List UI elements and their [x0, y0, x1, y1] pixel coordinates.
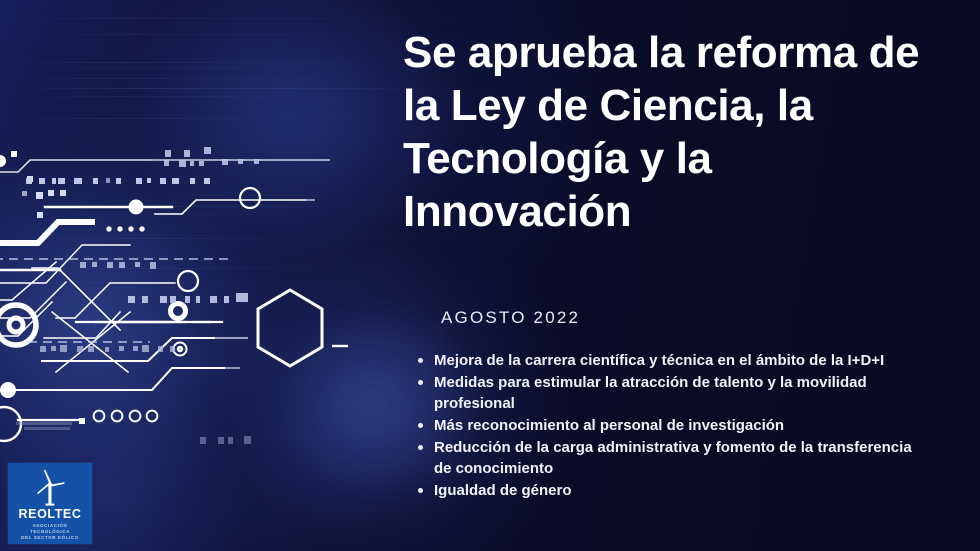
slide-date: AGOSTO 2022 [441, 308, 580, 328]
bullet-list: Mejora de la carrera científica y técnic… [413, 350, 933, 502]
list-item-text: Medidas para estimular la atracción de t… [434, 374, 867, 412]
list-item: Más reconocimiento al personal de invest… [413, 415, 933, 436]
list-item: Medidas para estimular la atracción de t… [413, 372, 933, 414]
bullet-dot-icon [418, 488, 423, 493]
slide-title: Se aprueba la reforma de la Ley de Cienc… [403, 26, 948, 238]
bullet-dot-icon [418, 445, 423, 450]
list-item-text: Reducción de la carga administrativa y f… [434, 439, 912, 477]
list-item: Mejora de la carrera científica y técnic… [413, 350, 933, 371]
presentation-slide: Se aprueba la reforma de la Ley de Cienc… [0, 0, 980, 551]
wind-turbine-icon [30, 470, 70, 506]
list-item-text: Igualdad de género [434, 482, 572, 499]
list-item: Igualdad de género [413, 480, 933, 501]
list-item-text: Más reconocimiento al personal de invest… [434, 417, 784, 434]
logo-tagline: ASOCIACIÓN TECNOLÓGICA DEL SECTOR EÓLICO [21, 523, 79, 542]
bullet-dot-icon [418, 380, 423, 385]
bullet-dot-icon [418, 423, 423, 428]
circuit-board-graphic [0, 0, 420, 500]
logo-name: REOLTEC [19, 507, 82, 521]
reoltec-logo: REOLTEC ASOCIACIÓN TECNOLÓGICA DEL SECTO… [8, 463, 92, 544]
list-item-text: Mejora de la carrera científica y técnic… [434, 352, 884, 369]
logo-tagline-line3: DEL SECTOR EÓLICO [21, 535, 79, 541]
list-item: Reducción de la carga administrativa y f… [413, 437, 933, 479]
bullet-dot-icon [418, 358, 423, 363]
